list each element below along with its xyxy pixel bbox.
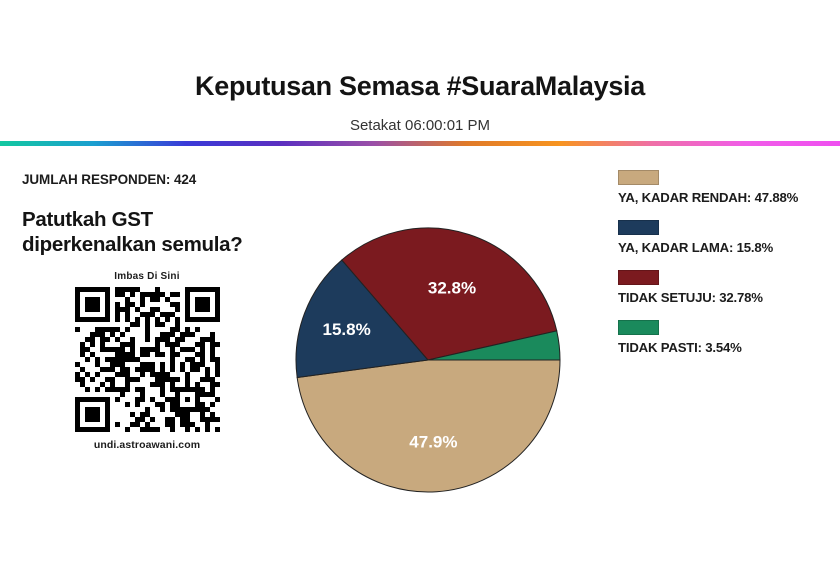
pie-slice-label: 47.9% bbox=[409, 433, 457, 452]
chart-legend: YA, KADAR RENDAH: 47.88%YA, KADAR LAMA: … bbox=[618, 170, 833, 370]
respondents-count: JUMLAH RESPONDEN: 424 bbox=[22, 172, 294, 187]
qr-url-caption: undi.astroawani.com bbox=[22, 439, 272, 451]
legend-swatch-icon bbox=[618, 170, 659, 185]
legend-item-label: TIDAK PASTI: 3.54% bbox=[618, 340, 833, 355]
legend-item[interactable]: YA, KADAR RENDAH: 47.88% bbox=[618, 170, 833, 205]
header: Keputusan Semasa #SuaraMalaysia Setakat … bbox=[0, 0, 840, 134]
legend-item-label: TIDAK SETUJU: 32.78% bbox=[618, 290, 833, 305]
qr-caption-top: Imbas Di Sini bbox=[22, 271, 272, 282]
qr-code-icon[interactable] bbox=[75, 287, 220, 432]
legend-swatch-icon bbox=[618, 220, 659, 235]
legend-swatch-icon bbox=[618, 270, 659, 285]
gradient-divider bbox=[0, 141, 840, 146]
pie-chart: 47.9%15.8%32.8% bbox=[288, 218, 572, 506]
legend-item-label: YA, KADAR LAMA: 15.8% bbox=[618, 240, 833, 255]
page-title: Keputusan Semasa #SuaraMalaysia bbox=[0, 0, 840, 102]
pie-chart-svg: 47.9%15.8%32.8% bbox=[288, 218, 572, 506]
pie-slice-label: 15.8% bbox=[322, 320, 370, 339]
poll-result-card: Keputusan Semasa #SuaraMalaysia Setakat … bbox=[0, 0, 840, 570]
legend-item[interactable]: TIDAK SETUJU: 32.78% bbox=[618, 270, 833, 305]
legend-item[interactable]: YA, KADAR LAMA: 15.8% bbox=[618, 220, 833, 255]
pie-slice[interactable] bbox=[297, 360, 560, 492]
legend-item[interactable]: TIDAK PASTI: 3.54% bbox=[618, 320, 833, 355]
legend-item-label: YA, KADAR RENDAH: 47.88% bbox=[618, 190, 833, 205]
legend-swatch-icon bbox=[618, 320, 659, 335]
pie-slice-label: 32.8% bbox=[428, 278, 476, 297]
qr-block: Imbas Di Sini undi.astroawani.com bbox=[22, 271, 272, 451]
timestamp-subtitle: Setakat 06:00:01 PM bbox=[0, 102, 840, 135]
poll-question: Patutkah GST diperkenalkan semula? bbox=[22, 207, 272, 257]
left-panel: JUMLAH RESPONDEN: 424 Patutkah GST diper… bbox=[22, 172, 294, 451]
